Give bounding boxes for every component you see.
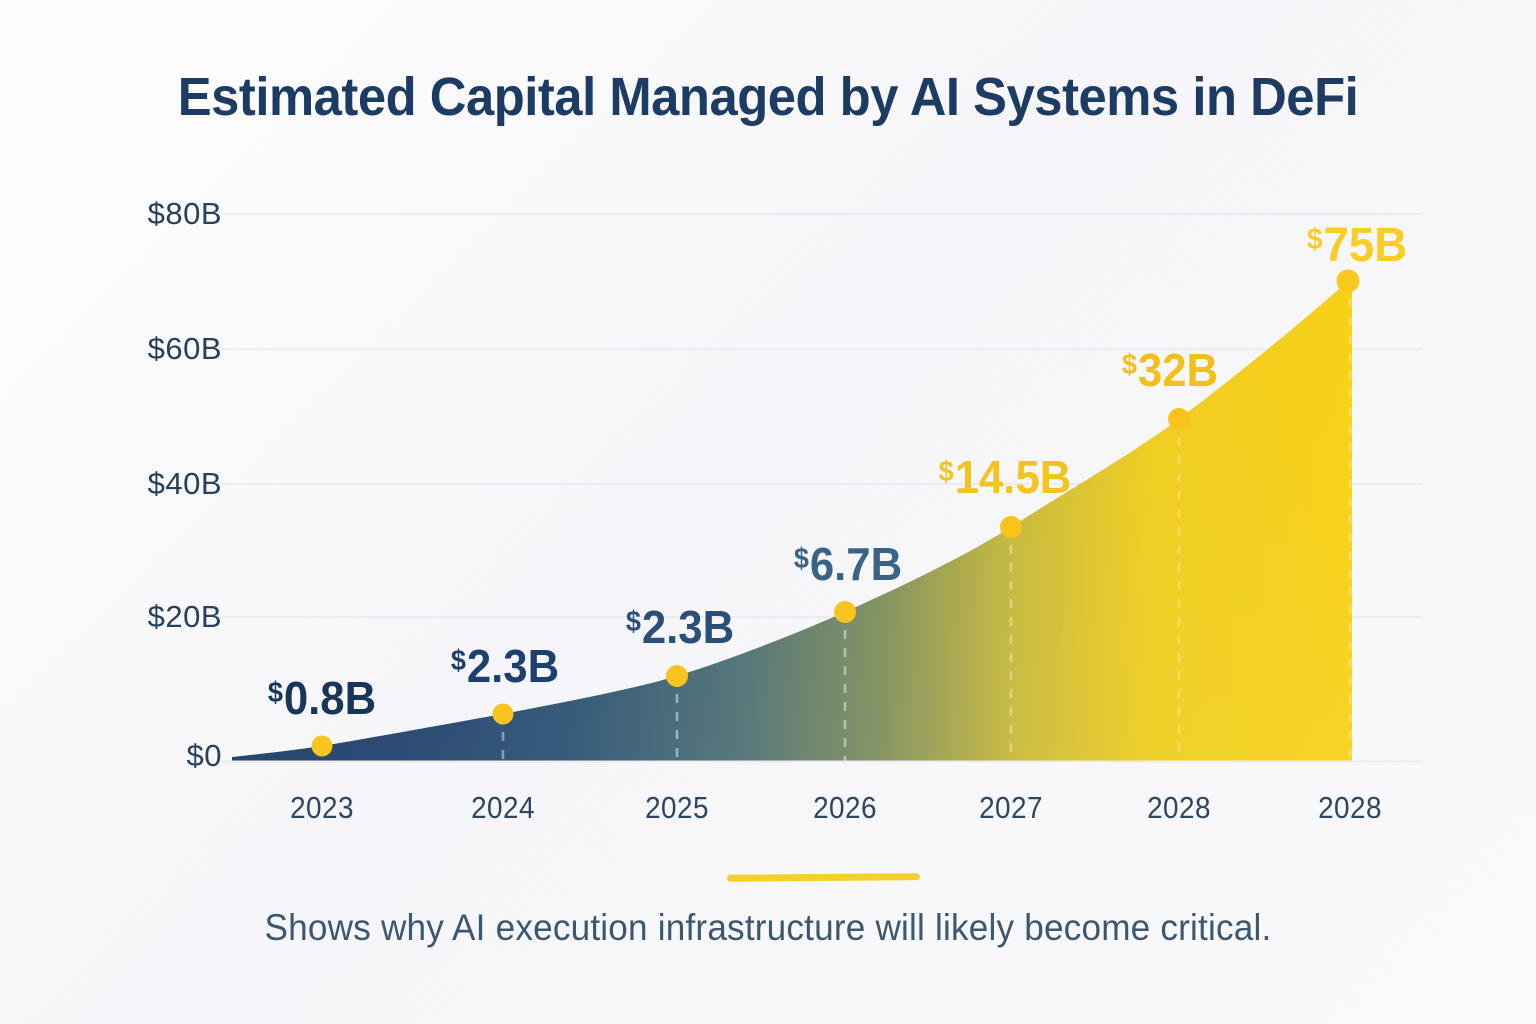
- currency-symbol: $: [1307, 223, 1323, 256]
- value-label-2026: $6.7B: [794, 541, 902, 587]
- currency-symbol: $: [451, 645, 466, 677]
- x-tick-2027: 2027: [979, 790, 1043, 826]
- chart-caption: Shows why AI execution infrastructure wi…: [38, 907, 1497, 949]
- chart-page: Estimated Capital Managed by AI Systems …: [0, 0, 1536, 1024]
- currency-symbol: $: [939, 456, 954, 488]
- currency-symbol: $: [794, 543, 809, 575]
- y-tick-80b: $80B: [148, 196, 222, 232]
- y-tick-60b: $60B: [148, 331, 222, 367]
- value-label-2028-a: $32B: [1122, 347, 1218, 393]
- currency-symbol: $: [268, 677, 283, 709]
- value-number: 2.3B: [467, 640, 559, 692]
- area-chart-svg: [0, 0, 1536, 1024]
- x-tick-2024: 2024: [471, 790, 535, 826]
- value-number: 6.7B: [810, 538, 902, 590]
- value-label-2027: $14.5B: [939, 454, 1072, 500]
- x-tick-2023: 2023: [290, 790, 354, 826]
- value-number: 0.8B: [284, 672, 376, 724]
- x-tick-2028-b: 2028: [1318, 790, 1382, 826]
- currency-symbol: $: [1122, 349, 1137, 381]
- value-number: 75B: [1324, 219, 1408, 272]
- chart-plot-area: $80B $60B $40B $20B $0 2023 2024 2025 20…: [0, 0, 1536, 1024]
- currency-symbol: $: [626, 606, 641, 638]
- value-label-2028-b: $75B: [1307, 222, 1407, 270]
- value-number: 2.3B: [642, 601, 734, 653]
- value-label-2024: $2.3B: [451, 643, 559, 689]
- value-label-2025: $2.3B: [626, 604, 734, 650]
- y-tick-40b: $40B: [148, 466, 222, 502]
- value-number: 14.5B: [955, 451, 1072, 503]
- value-number: 32B: [1138, 344, 1218, 396]
- value-label-2023: $0.8B: [268, 675, 376, 721]
- y-tick-0: $0: [187, 738, 222, 774]
- x-tick-2028-a: 2028: [1147, 790, 1211, 826]
- y-tick-20b: $20B: [148, 599, 222, 635]
- x-tick-2026: 2026: [813, 790, 877, 826]
- x-tick-2025: 2025: [645, 790, 709, 826]
